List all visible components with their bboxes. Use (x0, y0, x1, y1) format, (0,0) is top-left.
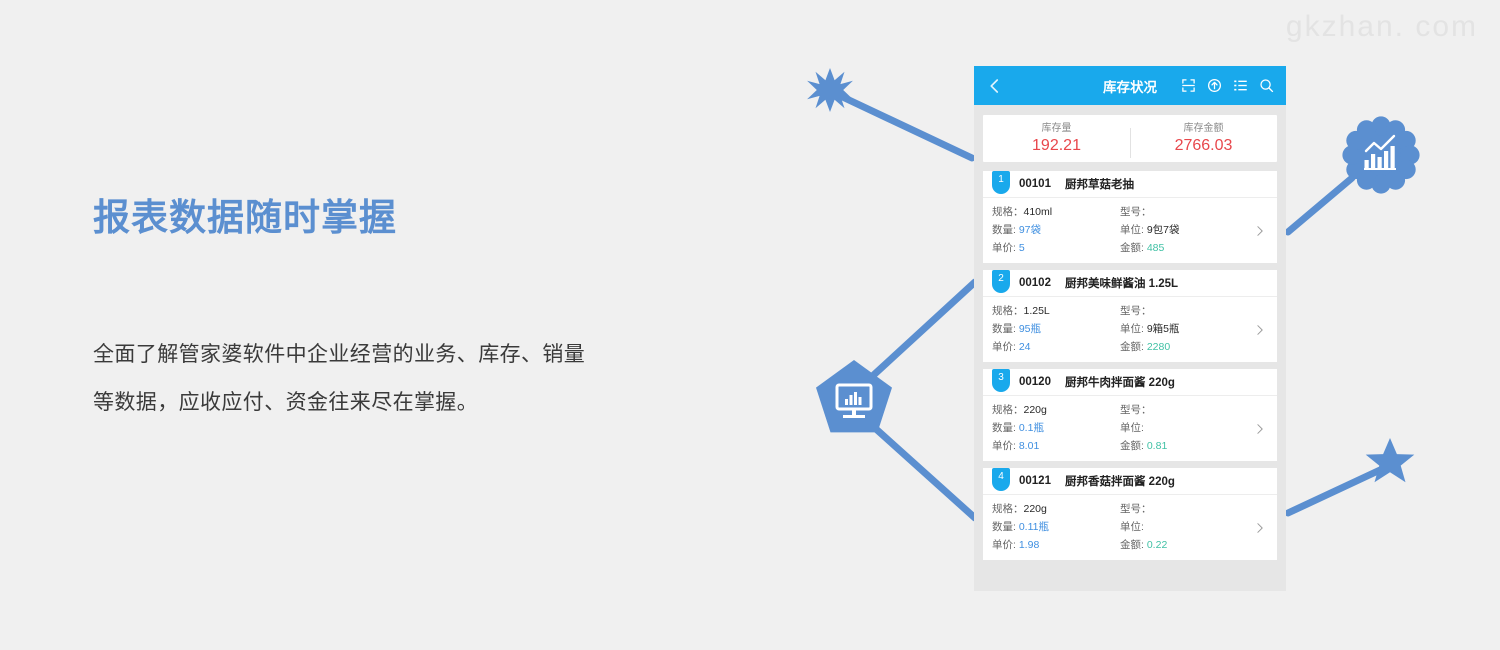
list-item-body: 规格：220g 数量: 0.11瓶 单价: 1.98 型号： (983, 495, 1277, 560)
summary-card: 库存量 192.21 库存金额 2766.03 (983, 115, 1277, 162)
item-index-badge: 1 (992, 171, 1010, 194)
item-qty-label: 数量: (992, 521, 1016, 533)
item-unit-label: 单位: (1120, 422, 1144, 434)
item-index-badge: 4 (992, 468, 1010, 491)
item-unit-label: 单位: (1120, 323, 1144, 335)
item-unit-label: 单位: (1120, 521, 1144, 533)
chevron-right-icon[interactable] (1253, 422, 1266, 435)
item-right-column: 型号： 单位: 9包7袋 金额: 485 (1120, 203, 1248, 257)
item-price-line: 单价: 8.01 (992, 437, 1120, 455)
item-index-badge: 2 (992, 270, 1010, 293)
item-unit-line: 单位: (1120, 419, 1248, 437)
item-qty-value: 97袋 (1019, 224, 1041, 236)
item-model-label: 型号： (1120, 503, 1152, 515)
item-price-line: 单价: 1.98 (992, 536, 1120, 554)
item-model-label: 型号： (1120, 305, 1152, 317)
item-name: 厨邦美味鲜酱油 1.25L (1065, 275, 1178, 291)
item-model-line: 型号： (1120, 302, 1248, 320)
monitor-chart-icon (816, 360, 892, 432)
item-name: 厨邦牛肉拌面酱 220g (1065, 374, 1175, 390)
item-spec-value: 410ml (1024, 206, 1053, 218)
list-item-header: 2 00102 厨邦美味鲜酱油 1.25L (983, 270, 1277, 297)
item-unit-line: 单位: (1120, 518, 1248, 536)
item-amount-label: 金额: (1120, 242, 1144, 254)
promo-copy-block: 报表数据随时掌握 (93, 196, 613, 240)
item-unit-value: 9箱5瓶 (1147, 323, 1180, 335)
item-right-column: 型号： 单位: 金额: 0.81 (1120, 401, 1248, 455)
list-item[interactable]: 2 00102 厨邦美味鲜酱油 1.25L 规格：1.25L 数量: 95瓶 单… (983, 263, 1277, 362)
item-model-line: 型号： (1120, 500, 1248, 518)
item-amount-value: 2280 (1147, 341, 1170, 353)
chevron-right-icon[interactable] (1253, 323, 1266, 336)
item-unit-line: 单位: 9箱5瓶 (1120, 320, 1248, 338)
item-right-column: 型号： 单位: 金额: 0.22 (1120, 500, 1248, 554)
item-spec-line: 规格：220g (992, 401, 1120, 419)
summary-stat-label: 库存量 (983, 122, 1130, 136)
item-price-value: 8.01 (1019, 440, 1039, 452)
item-spec-label: 规格： (992, 503, 1024, 515)
item-unit-value: 9包7袋 (1147, 224, 1180, 236)
upload-circle-icon[interactable] (1207, 78, 1222, 93)
item-amount-line: 金额: 0.22 (1120, 536, 1248, 554)
item-spec-line: 规格：410ml (992, 203, 1120, 221)
star-icon (1366, 438, 1415, 482)
item-price-line: 单价: 24 (992, 338, 1120, 356)
list-item[interactable]: 1 00101 厨邦草菇老抽 规格：410ml 数量: 97袋 单价: 5 (983, 171, 1277, 263)
item-amount-line: 金额: 2280 (1120, 338, 1248, 356)
item-code: 00121 (1019, 475, 1051, 487)
item-spec-label: 规格： (992, 206, 1024, 218)
item-qty-label: 数量: (992, 422, 1016, 434)
item-model-line: 型号： (1120, 203, 1248, 221)
promo-description: 全面了解管家婆软件中企业经营的业务、库存、销量等数据，应收应付、资金往来尽在掌握… (93, 331, 593, 427)
starburst-icon (807, 68, 853, 112)
summary-stat-value: 192.21 (983, 136, 1130, 156)
item-qty-value: 0.11瓶 (1019, 521, 1049, 533)
item-code: 00120 (1019, 376, 1051, 388)
item-qty-label: 数量: (992, 224, 1016, 236)
item-name: 厨邦草菇老抽 (1065, 176, 1134, 192)
item-spec-value: 220g (1024, 404, 1047, 416)
item-price-value: 24 (1019, 341, 1031, 353)
item-spec-line: 规格：220g (992, 500, 1120, 518)
item-unit-line: 单位: 9包7袋 (1120, 221, 1248, 239)
list-item[interactable]: 3 00120 厨邦牛肉拌面酱 220g 规格：220g 数量: 0.1瓶 单价… (983, 362, 1277, 461)
item-spec-line: 规格：1.25L (992, 302, 1120, 320)
summary-stat-label: 库存金额 (1130, 122, 1277, 136)
item-qty-label: 数量: (992, 323, 1016, 335)
list-item-body: 规格：410ml 数量: 97袋 单价: 5 型号： (983, 198, 1277, 263)
item-unit-label: 单位: (1120, 224, 1144, 236)
app-bar: 库存状况 (974, 66, 1286, 105)
item-index-badge: 3 (992, 369, 1010, 392)
item-spec-label: 规格： (992, 305, 1024, 317)
chevron-left-icon[interactable] (986, 77, 1004, 95)
list-item-body: 规格：220g 数量: 0.1瓶 单价: 8.01 型号： (983, 396, 1277, 461)
list-item-header: 3 00120 厨邦牛肉拌面酱 220g (983, 369, 1277, 396)
page-title: 报表数据随时掌握 (93, 196, 613, 240)
item-amount-label: 金额: (1120, 539, 1144, 551)
summary-stat-quantity: 库存量 192.21 (983, 122, 1130, 156)
item-spec-value: 1.25L (1024, 305, 1050, 317)
poster-stage: gkzhan. com 报表数据随时掌握 全面了解管家婆软件中企业经营的业务、库… (0, 0, 1500, 650)
item-model-label: 型号： (1120, 206, 1152, 218)
app-bar-actions (1181, 78, 1274, 93)
item-left-column: 规格：1.25L 数量: 95瓶 单价: 24 (992, 302, 1120, 356)
item-model-line: 型号： (1120, 401, 1248, 419)
app-screenshot-frame: 库存状况 (974, 66, 1286, 591)
list-item-header: 4 00121 厨邦香菇拌面酱 220g (983, 468, 1277, 495)
item-qty-line: 数量: 95瓶 (992, 320, 1120, 338)
list-item-header: 1 00101 厨邦草菇老抽 (983, 171, 1277, 198)
connector-line-mid-upper (866, 282, 975, 382)
item-code: 00101 (1019, 178, 1051, 190)
item-price-value: 5 (1019, 242, 1025, 254)
bar-chart-trend-icon (1342, 116, 1419, 193)
item-qty-value: 0.1瓶 (1019, 422, 1044, 434)
item-spec-value: 220g (1024, 503, 1047, 515)
item-qty-line: 数量: 0.11瓶 (992, 518, 1120, 536)
search-icon[interactable] (1259, 78, 1274, 93)
item-code: 00102 (1019, 277, 1051, 289)
item-amount-line: 金额: 485 (1120, 239, 1248, 257)
connector-line-right-upper (1288, 178, 1352, 232)
item-price-label: 单价: (992, 341, 1016, 353)
summary-stat-amount: 库存金额 2766.03 (1130, 122, 1277, 156)
chevron-right-icon[interactable] (1253, 224, 1266, 237)
item-price-label: 单价: (992, 539, 1016, 551)
list-footer-space (974, 560, 1286, 591)
item-amount-label: 金额: (1120, 440, 1144, 452)
item-amount-value: 0.81 (1147, 440, 1167, 452)
item-right-column: 型号： 单位: 9箱5瓶 金额: 2280 (1120, 302, 1248, 356)
item-price-label: 单价: (992, 242, 1016, 254)
site-watermark: gkzhan. com (1286, 10, 1478, 44)
item-left-column: 规格：410ml 数量: 97袋 单价: 5 (992, 203, 1120, 257)
connector-line-top (832, 92, 972, 158)
item-model-label: 型号： (1120, 404, 1152, 416)
item-amount-line: 金额: 0.81 (1120, 437, 1248, 455)
connector-line-right-lower (1288, 470, 1380, 513)
item-qty-line: 数量: 97袋 (992, 221, 1120, 239)
chevron-right-icon[interactable] (1253, 521, 1266, 534)
item-left-column: 规格：220g 数量: 0.1瓶 单价: 8.01 (992, 401, 1120, 455)
item-qty-value: 95瓶 (1019, 323, 1041, 335)
summary-stat-value: 2766.03 (1130, 136, 1277, 156)
list-item-body: 规格：1.25L 数量: 95瓶 单价: 24 型号： (983, 297, 1277, 362)
connector-line-mid-lower (866, 420, 975, 518)
inventory-list: 1 00101 厨邦草菇老抽 规格：410ml 数量: 97袋 单价: 5 (983, 171, 1277, 560)
scan-icon[interactable] (1181, 78, 1196, 93)
list-icon[interactable] (1233, 78, 1248, 93)
item-qty-line: 数量: 0.1瓶 (992, 419, 1120, 437)
item-price-value: 1.98 (1019, 539, 1039, 551)
list-item[interactable]: 4 00121 厨邦香菇拌面酱 220g 规格：220g 数量: 0.11瓶 单… (983, 461, 1277, 560)
item-amount-label: 金额: (1120, 341, 1144, 353)
item-name: 厨邦香菇拌面酱 220g (1065, 473, 1175, 489)
item-price-line: 单价: 5 (992, 239, 1120, 257)
item-left-column: 规格：220g 数量: 0.11瓶 单价: 1.98 (992, 500, 1120, 554)
item-amount-value: 0.22 (1147, 539, 1167, 551)
item-spec-label: 规格： (992, 404, 1024, 416)
item-price-label: 单价: (992, 440, 1016, 452)
item-amount-value: 485 (1147, 242, 1165, 254)
